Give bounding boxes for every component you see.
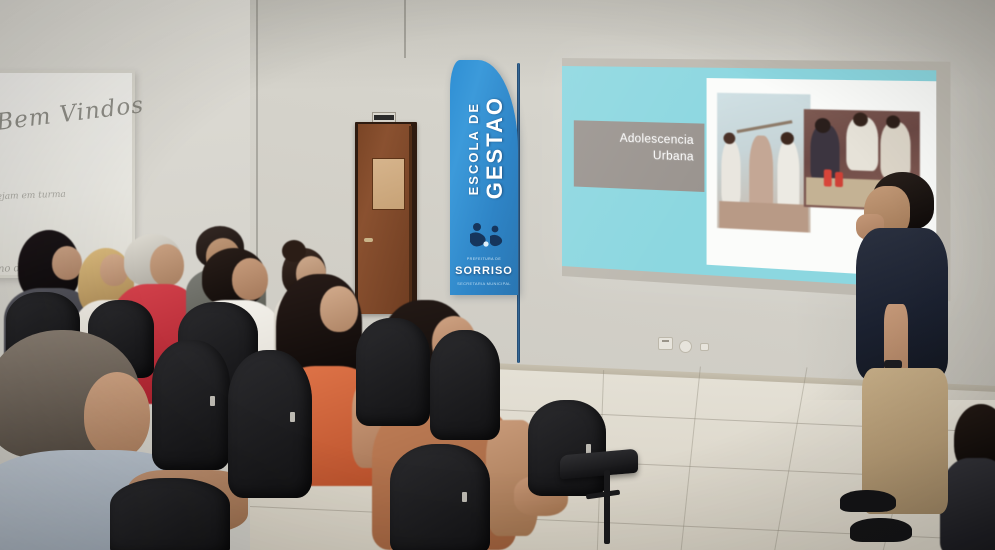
wall-socket	[700, 343, 709, 351]
banner-brand-sub: PREFEITURA DE	[455, 257, 513, 261]
wall-socket	[679, 340, 692, 353]
chair[interactable]	[152, 340, 230, 470]
door-edge	[409, 126, 412, 312]
banner-fabric: ESCOLA DE GESTAO PREFEITURA DE SORRISO S…	[450, 60, 518, 295]
banner-brand-footer: SECRETARIA MUNICIPAL	[455, 281, 513, 287]
chair[interactable]	[228, 350, 312, 498]
exit-sign-label: SAIDA	[374, 115, 394, 120]
chair[interactable]	[390, 444, 490, 550]
whiteboard-text-line2: sejam em turma	[0, 190, 66, 203]
chair[interactable]	[430, 330, 500, 440]
slide-photo-left	[717, 93, 810, 233]
door-paper-notice	[372, 158, 405, 210]
slide-title: Adolescencia Urbana	[574, 130, 694, 165]
door-handle[interactable]	[364, 238, 373, 242]
chair[interactable]	[356, 318, 430, 426]
presenter-shoe	[840, 490, 896, 512]
banner-text-gestao: GESTAO	[482, 96, 508, 199]
chair-tag	[290, 412, 295, 422]
exit-door[interactable]	[358, 124, 411, 314]
classroom-photo-scene: Bem Vindos sejam em turma ano de 2006 SA…	[0, 0, 995, 550]
chair-leg	[604, 470, 610, 544]
banner-text-escola: ESCOLA DE	[466, 102, 481, 195]
roll-up-banner: ESCOLA DE GESTAO PREFEITURA DE SORRISO S…	[440, 55, 526, 345]
chair-tag	[210, 396, 215, 406]
banner-logo-icon	[466, 220, 506, 254]
chair-tag	[462, 492, 467, 502]
whiteboard-text-line1: Bem Vindos	[0, 92, 145, 136]
chair[interactable]	[110, 478, 230, 550]
banner-brand: SORRISO	[455, 265, 513, 277]
presenter-shoe	[850, 518, 912, 542]
wall-socket	[658, 337, 673, 350]
chair[interactable]	[528, 400, 606, 496]
